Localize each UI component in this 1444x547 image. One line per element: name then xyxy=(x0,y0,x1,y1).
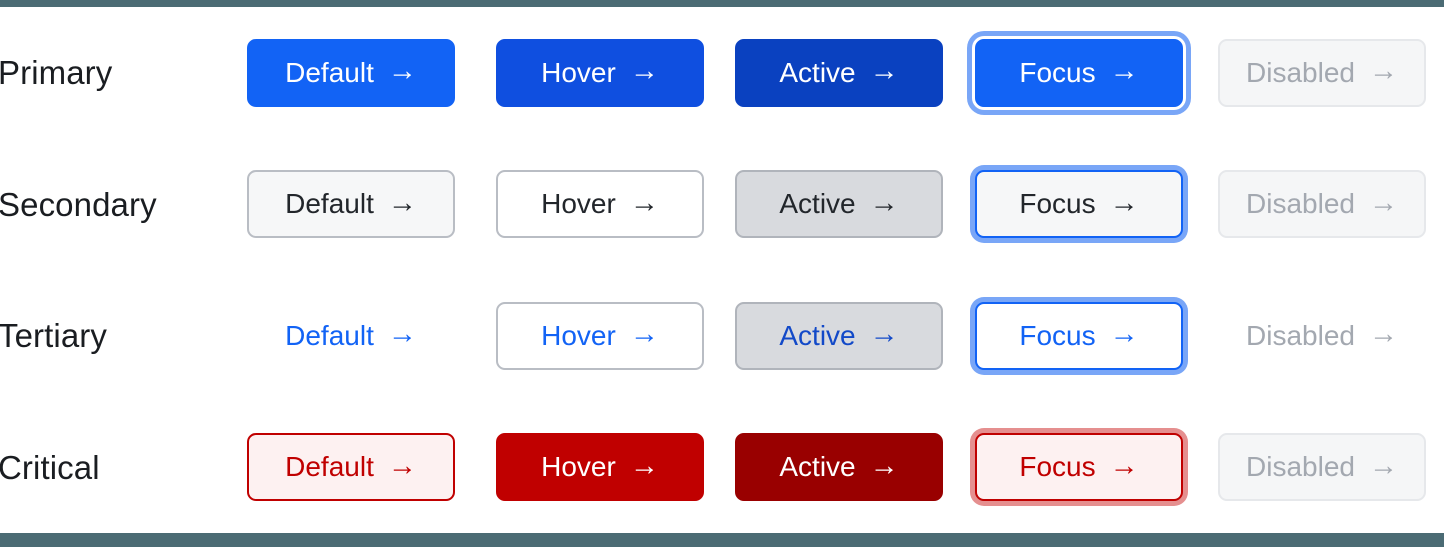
cell-primary-disabled: Disabled → xyxy=(1218,39,1444,107)
arrow-right-icon: → xyxy=(388,57,417,86)
arrow-right-icon: → xyxy=(870,452,899,481)
row-label-primary: Primary xyxy=(0,56,112,89)
button-tertiary-focus[interactable]: Focus → xyxy=(975,302,1183,370)
button-label: Disabled xyxy=(1246,190,1355,218)
button-label: Focus xyxy=(1019,453,1095,481)
button-critical-active[interactable]: Active → xyxy=(735,433,943,501)
row-label-cell-tertiary: Tertiary xyxy=(0,319,247,352)
arrow-right-icon: → xyxy=(870,189,899,218)
cell-secondary-hover: Hover → xyxy=(496,170,735,238)
row-label-cell-critical: Critical xyxy=(0,451,247,484)
cell-secondary-disabled: Disabled → xyxy=(1218,170,1444,238)
arrow-right-icon: → xyxy=(388,189,417,218)
button-tertiary-disabled: Disabled → xyxy=(1218,302,1426,370)
arrow-right-icon: → xyxy=(1110,57,1139,86)
cell-secondary-active: Active → xyxy=(735,170,975,238)
button-tertiary-hover[interactable]: Hover → xyxy=(496,302,704,370)
button-critical-default[interactable]: Default → xyxy=(247,433,455,501)
cell-tertiary-hover: Hover → xyxy=(496,302,735,370)
button-label: Focus xyxy=(1019,322,1095,350)
arrow-right-icon: → xyxy=(1110,452,1139,481)
button-label: Active xyxy=(779,190,855,218)
button-secondary-disabled: Disabled → xyxy=(1218,170,1426,238)
cell-primary-hover: Hover → xyxy=(496,39,735,107)
button-label: Disabled xyxy=(1246,453,1355,481)
button-tertiary-default[interactable]: Default → xyxy=(247,302,455,370)
top-chrome-bar xyxy=(0,0,1444,7)
arrow-right-icon: → xyxy=(630,57,659,86)
button-primary-default[interactable]: Default → xyxy=(247,39,455,107)
row-label-secondary: Secondary xyxy=(0,188,157,221)
cell-critical-disabled: Disabled → xyxy=(1218,433,1444,501)
button-label: Active xyxy=(779,453,855,481)
cell-critical-active: Active → xyxy=(735,433,975,501)
button-label: Disabled xyxy=(1246,322,1355,350)
row-label-critical: Critical xyxy=(0,451,100,484)
row-label-cell-secondary: Secondary xyxy=(0,188,247,221)
arrow-right-icon: → xyxy=(1369,57,1398,86)
cell-critical-focus: Focus → xyxy=(975,433,1218,501)
button-secondary-default[interactable]: Default → xyxy=(247,170,455,238)
button-label: Default xyxy=(285,190,374,218)
cell-secondary-focus: Focus → xyxy=(975,170,1218,238)
cell-primary-active: Active → xyxy=(735,39,975,107)
button-label: Hover xyxy=(541,190,616,218)
row-label-tertiary: Tertiary xyxy=(0,319,107,352)
arrow-right-icon: → xyxy=(1369,189,1398,218)
cell-primary-default: Default → xyxy=(247,39,496,107)
arrow-right-icon: → xyxy=(870,57,899,86)
cell-tertiary-focus: Focus → xyxy=(975,302,1218,370)
arrow-right-icon: → xyxy=(630,189,659,218)
button-tertiary-active[interactable]: Active → xyxy=(735,302,943,370)
cell-tertiary-disabled: Disabled → xyxy=(1218,302,1444,370)
cell-tertiary-active: Active → xyxy=(735,302,975,370)
button-primary-focus[interactable]: Focus → xyxy=(975,39,1183,107)
arrow-right-icon: → xyxy=(630,452,659,481)
button-secondary-hover[interactable]: Hover → xyxy=(496,170,704,238)
button-states-matrix: Primary Default → Hover → Active → Focus… xyxy=(0,7,1444,533)
button-primary-disabled: Disabled → xyxy=(1218,39,1426,107)
button-label: Active xyxy=(779,322,855,350)
cell-tertiary-default: Default → xyxy=(247,302,496,370)
arrow-right-icon: → xyxy=(388,320,417,349)
button-primary-hover[interactable]: Hover → xyxy=(496,39,704,107)
arrow-right-icon: → xyxy=(1369,452,1398,481)
button-critical-disabled: Disabled → xyxy=(1218,433,1426,501)
bottom-chrome-bar xyxy=(0,533,1444,547)
arrow-right-icon: → xyxy=(630,320,659,349)
cell-secondary-default: Default → xyxy=(247,170,496,238)
cell-critical-default: Default → xyxy=(247,433,496,501)
arrow-right-icon: → xyxy=(388,452,417,481)
button-label: Active xyxy=(779,59,855,87)
button-label: Default xyxy=(285,453,374,481)
button-label: Default xyxy=(285,59,374,87)
cell-primary-focus: Focus → xyxy=(975,39,1218,107)
arrow-right-icon: → xyxy=(1369,320,1398,349)
button-label: Hover xyxy=(541,322,616,350)
arrow-right-icon: → xyxy=(1110,320,1139,349)
button-label: Default xyxy=(285,322,374,350)
button-label: Hover xyxy=(541,453,616,481)
button-secondary-focus[interactable]: Focus → xyxy=(975,170,1183,238)
row-label-cell-primary: Primary xyxy=(0,56,247,89)
arrow-right-icon: → xyxy=(1110,189,1139,218)
button-label: Focus xyxy=(1019,59,1095,87)
button-secondary-active[interactable]: Active → xyxy=(735,170,943,238)
button-primary-active[interactable]: Active → xyxy=(735,39,943,107)
button-label: Hover xyxy=(541,59,616,87)
arrow-right-icon: → xyxy=(870,320,899,349)
button-critical-focus[interactable]: Focus → xyxy=(975,433,1183,501)
button-critical-hover[interactable]: Hover → xyxy=(496,433,704,501)
cell-critical-hover: Hover → xyxy=(496,433,735,501)
button-label: Focus xyxy=(1019,190,1095,218)
button-label: Disabled xyxy=(1246,59,1355,87)
